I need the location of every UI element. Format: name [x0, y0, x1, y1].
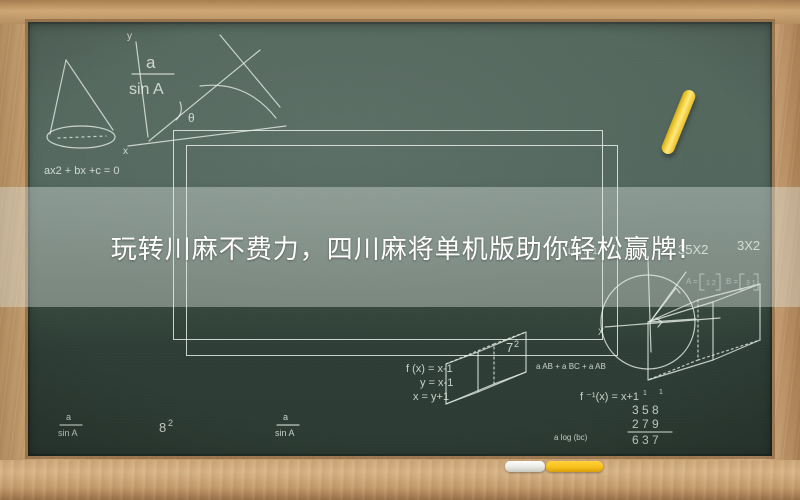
svg-text:f ⁻¹(x) = x+1: f ⁻¹(x) = x+1	[580, 391, 639, 403]
svg-text:sin A: sin A	[58, 428, 78, 438]
vector-sum-equation: a AB + a BC + a AB	[536, 362, 606, 371]
svg-text:f (x) = x-1: f (x) = x-1	[406, 363, 453, 375]
inverse-function-equation: f ⁻¹(x) = x+1 1 1	[580, 389, 663, 403]
svg-text:6 3 7: 6 3 7	[632, 433, 659, 447]
svg-text:X: X	[598, 327, 604, 337]
frame-bottom-tray	[0, 460, 800, 500]
svg-text:2: 2	[168, 418, 173, 428]
function-equations: f (x) = x-1 y = x-1 x = y+1	[406, 363, 453, 403]
law-of-sines-small-center: a sin A	[275, 412, 299, 438]
svg-text:x = y+1: x = y+1	[413, 391, 449, 403]
svg-text:a: a	[66, 412, 71, 422]
cube-diagram-center	[446, 332, 526, 404]
svg-text:3 5 8: 3 5 8	[632, 403, 659, 417]
cone-drawing	[47, 60, 115, 148]
svg-text:y = x-1: y = x-1	[420, 377, 453, 389]
chalkboard-banner-image: a sin A ax2 + bx +c = 0 y x θ f (x) = x	[0, 0, 800, 500]
svg-text:θ: θ	[188, 111, 195, 125]
law-of-sines-small-left: a sin A	[58, 412, 82, 438]
svg-text:y: y	[127, 31, 132, 42]
quadratic-equation: ax2 + bx +c = 0	[44, 165, 120, 177]
svg-text:1: 1	[659, 389, 663, 396]
svg-text:8: 8	[159, 420, 166, 435]
white-chalk-stick	[505, 461, 545, 472]
svg-text:a: a	[283, 412, 288, 422]
fraction-column: 3 5 8 2 7 9 6 3 7	[628, 403, 672, 447]
svg-text:2 7 9: 2 7 9	[632, 417, 659, 431]
angle-diagram: y x θ	[123, 31, 286, 157]
law-of-sines-fraction: a sin A	[129, 53, 174, 98]
svg-text:7: 7	[506, 340, 513, 355]
log-bc-label: a log (bc)	[554, 433, 588, 442]
svg-text:1: 1	[643, 390, 647, 397]
svg-text:sin A: sin A	[275, 428, 295, 438]
frame-top-rail	[0, 0, 800, 24]
svg-text:sin A: sin A	[129, 81, 164, 98]
svg-text:x: x	[123, 146, 128, 157]
exponent-labels: 7 2 8 2	[159, 339, 519, 435]
yellow-chalk-stick	[546, 461, 603, 472]
svg-text:a: a	[146, 53, 156, 72]
svg-text:2: 2	[514, 339, 519, 349]
headline-text: 玩转川麻不费力，四川麻将单机版助你轻松赢牌!	[0, 187, 800, 307]
